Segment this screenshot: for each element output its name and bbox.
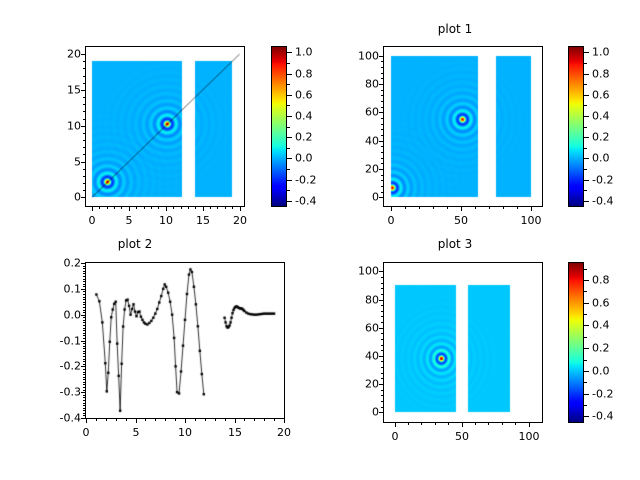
plot1-ytick-label: 80 bbox=[341, 78, 379, 91]
plot0-ytick bbox=[81, 90, 86, 91]
plot3-ytick-label: 40 bbox=[341, 350, 379, 363]
plot3-ytick-minor bbox=[381, 322, 384, 323]
plot0-ytick-minor bbox=[83, 147, 86, 148]
plot0-ytick bbox=[81, 162, 86, 163]
plot0-ytick bbox=[81, 197, 86, 198]
plot3-xtick-label: 0 bbox=[392, 430, 399, 443]
plot3-cbar-tick-minor bbox=[584, 360, 587, 361]
plot2-ytick-minor bbox=[83, 291, 86, 292]
plot0-xtick-label: 5 bbox=[126, 214, 133, 227]
plot2-ytick-minor bbox=[83, 400, 86, 401]
plot2-ytick-minor bbox=[83, 356, 86, 357]
plot2-ytick-minor bbox=[83, 390, 86, 391]
plot2-xtick-minor bbox=[195, 418, 196, 421]
plot0-cbar-tick-minor bbox=[287, 148, 290, 149]
plot0-ytick-minor bbox=[83, 68, 86, 69]
plot1-cbar-tick-label: 1.0 bbox=[592, 46, 610, 59]
plot1-ytick-minor bbox=[381, 107, 384, 108]
plot2-ytick bbox=[81, 289, 86, 290]
plot2-xtick-minor bbox=[106, 418, 107, 421]
plot3-ytick bbox=[379, 412, 384, 413]
plot0-xtick-minor bbox=[188, 206, 189, 209]
plot0-cbar-tick-label: 1.0 bbox=[295, 46, 313, 59]
plot0-cbar-tick bbox=[287, 201, 292, 202]
plot0-ytick-label: 0 bbox=[43, 191, 81, 204]
plot3-cbar-tick-minor bbox=[584, 291, 587, 292]
plot0-cbar-tick-label: 0.4 bbox=[295, 110, 313, 123]
plot1-cbar-tick bbox=[584, 52, 589, 53]
plot0-cbar-tick bbox=[287, 137, 292, 138]
plot2-ytick-minor bbox=[83, 271, 86, 272]
plot2-ytick-minor bbox=[83, 346, 86, 347]
plot2-xtick-minor bbox=[264, 418, 265, 421]
plot1-ytick-label: 40 bbox=[341, 135, 379, 148]
plot0-ytick-minor bbox=[83, 104, 86, 105]
plot1-ytick-minor bbox=[381, 90, 384, 91]
plot2-ytick bbox=[81, 366, 86, 367]
plot3-cbar-tick-minor bbox=[584, 337, 587, 338]
plot0-ytick-minor bbox=[83, 111, 86, 112]
plot1-ytick-minor bbox=[381, 175, 384, 176]
plot1-cbar-tick-label: -0.2 bbox=[592, 174, 613, 187]
plot0-cbar-tick bbox=[287, 95, 292, 96]
plot2-ytick-minor bbox=[83, 294, 86, 295]
plot3-ytick-minor bbox=[381, 367, 384, 368]
plot1-axes bbox=[383, 46, 543, 207]
plot1-ytick-minor bbox=[381, 118, 384, 119]
plot3-xtick-label: 50 bbox=[455, 430, 469, 443]
plot0-xtick-label: 15 bbox=[196, 214, 210, 227]
plot1-ytick-minor bbox=[381, 180, 384, 181]
plot2-ytick-minor bbox=[83, 405, 86, 406]
plot0-cbar-tick-label: 0.0 bbox=[295, 152, 313, 165]
plot3-xtick-minor bbox=[502, 422, 503, 425]
plot1-ytick-minor bbox=[381, 78, 384, 79]
plot3-ytick-minor bbox=[381, 390, 384, 391]
plot1-cbar-tick-minor bbox=[584, 84, 587, 85]
plot0-cbar-tick-minor bbox=[287, 63, 290, 64]
plot0-ytick-minor bbox=[83, 133, 86, 134]
plot3-cbar-tick-minor bbox=[584, 405, 587, 406]
plot1-xtick bbox=[391, 206, 392, 211]
plot0-xtick-minor bbox=[136, 206, 137, 209]
plot2-ytick bbox=[81, 263, 86, 264]
plot0-cbar-tick-label: -0.2 bbox=[295, 174, 316, 187]
plot1-cbar-tick bbox=[584, 116, 589, 117]
plot0-plot-area bbox=[86, 47, 244, 206]
plot2-ytick-minor bbox=[83, 322, 86, 323]
plot0-ytick-minor bbox=[83, 140, 86, 141]
plot1-ytick bbox=[379, 141, 384, 142]
plot2-plot-area bbox=[86, 263, 284, 418]
plot0-cbar-tick-label: -0.4 bbox=[295, 195, 316, 208]
plot3-cbar-tick bbox=[584, 394, 589, 395]
plot2-xtick-minor bbox=[126, 418, 127, 421]
plot2-xtick bbox=[86, 418, 87, 423]
plot1-ytick bbox=[379, 197, 384, 198]
plot1-ytick-minor bbox=[381, 186, 384, 187]
plot2-ytick-minor bbox=[83, 408, 86, 409]
plot3-ytick-minor bbox=[381, 361, 384, 362]
plot2-ytick-minor bbox=[83, 304, 86, 305]
plot3-xtick-minor bbox=[408, 422, 409, 425]
plot1-xtick-label: 50 bbox=[454, 214, 468, 227]
plot2-ytick-minor bbox=[83, 268, 86, 269]
plot3-ytick-label: 100 bbox=[341, 265, 379, 278]
plot2-ytick-minor bbox=[83, 372, 86, 373]
plot1-xtick-minor bbox=[503, 206, 504, 209]
plot1-ytick-label: 100 bbox=[341, 50, 379, 63]
plot0-xtick bbox=[129, 206, 130, 211]
plot1-ytick-minor bbox=[381, 101, 384, 102]
plot0-ytick-minor bbox=[83, 83, 86, 84]
plot1-cbar-tick bbox=[584, 158, 589, 159]
plot1-xtick-label: 100 bbox=[521, 214, 542, 227]
plot1-ytick-label: 0 bbox=[341, 191, 379, 204]
plot0-cbar-tick-label: 0.8 bbox=[295, 68, 313, 81]
plot2-xtick-minor bbox=[244, 418, 245, 421]
plot2-xtick-minor bbox=[254, 418, 255, 421]
plot1-ytick-minor bbox=[381, 135, 384, 136]
plot2-xtick-label: 5 bbox=[133, 426, 140, 439]
plot0-ytick-label: 20 bbox=[43, 48, 81, 61]
plot2-ytick-minor bbox=[83, 348, 86, 349]
plot2-ytick-minor bbox=[83, 286, 86, 287]
plot1-xtick-minor bbox=[433, 206, 434, 209]
plot3-ytick bbox=[379, 300, 384, 301]
plot2-xtick-minor bbox=[215, 418, 216, 421]
plot0-xtick-minor bbox=[217, 206, 218, 209]
plot0-cbar-tick-minor bbox=[287, 127, 290, 128]
plot0-xtick-minor bbox=[121, 206, 122, 209]
plot3-xtick-minor bbox=[435, 422, 436, 425]
plot2-ytick-minor bbox=[83, 279, 86, 280]
plot2-ytick-minor bbox=[83, 359, 86, 360]
plot1-ytick bbox=[379, 169, 384, 170]
plot2-ytick bbox=[81, 392, 86, 393]
plot1-cbar-tick-minor bbox=[584, 105, 587, 106]
plot0-xtick-minor bbox=[210, 206, 211, 209]
plot2-xtick-minor bbox=[274, 418, 275, 421]
plot0-ytick-minor bbox=[83, 119, 86, 120]
plot0-ytick-label: 10 bbox=[43, 120, 81, 133]
plot2-ytick-minor bbox=[83, 382, 86, 383]
plot0-xtick-label: 0 bbox=[89, 214, 96, 227]
plot2-ytick-minor bbox=[83, 415, 86, 416]
plot2-ytick-minor bbox=[83, 302, 86, 303]
plot1-cbar-tick-label: 0.2 bbox=[592, 131, 610, 144]
plot2-ytick-label: -0.4 bbox=[43, 412, 81, 425]
plot1-ytick-label: 60 bbox=[341, 106, 379, 119]
plot1-cbar-tick-minor bbox=[584, 63, 587, 64]
plot2-xtick-label: 20 bbox=[277, 426, 291, 439]
plot3-colorbar-gradient bbox=[569, 263, 583, 422]
plot3-ytick-label: 20 bbox=[341, 378, 379, 391]
plot1-cbar-tick-minor bbox=[584, 190, 587, 191]
plot3-xtick-minor bbox=[475, 422, 476, 425]
plot2-ytick-minor bbox=[83, 317, 86, 318]
plot1-ytick-minor bbox=[381, 73, 384, 74]
plot2-xtick-minor bbox=[145, 418, 146, 421]
plot3-cbar-tick bbox=[584, 371, 589, 372]
plot0-ytick-minor bbox=[83, 169, 86, 170]
plot2-ytick-minor bbox=[83, 325, 86, 326]
plot3-ytick-minor bbox=[381, 350, 384, 351]
plot3-ytick-label: 60 bbox=[341, 322, 379, 335]
plot2-ytick-minor bbox=[83, 413, 86, 414]
plot3-ytick bbox=[379, 328, 384, 329]
plot0-xtick-label: 10 bbox=[159, 214, 173, 227]
plot2-ytick-minor bbox=[83, 397, 86, 398]
plot2-ytick-label: -0.3 bbox=[43, 386, 81, 399]
plot2-ytick-minor bbox=[83, 353, 86, 354]
plot0-cbar-tick bbox=[287, 158, 292, 159]
plot1-ytick bbox=[379, 56, 384, 57]
plot0-xtick-minor bbox=[195, 206, 196, 209]
plot1-cbar-tick-label: -0.4 bbox=[592, 195, 613, 208]
plot1-cbar-tick-minor bbox=[584, 148, 587, 149]
plot0-xtick-minor bbox=[232, 206, 233, 209]
plot0-xtick-label: 20 bbox=[233, 214, 247, 227]
plot1-ytick-minor bbox=[381, 146, 384, 147]
plot0-ytick-minor bbox=[83, 190, 86, 191]
plot3-ytick-minor bbox=[381, 294, 384, 295]
plot3-ytick-minor bbox=[381, 373, 384, 374]
plot2-ytick bbox=[81, 341, 86, 342]
plot0-ytick bbox=[81, 126, 86, 127]
plot1-ytick-minor bbox=[381, 152, 384, 153]
plot0-ytick-label: 15 bbox=[43, 84, 81, 97]
plot2-ytick-minor bbox=[83, 384, 86, 385]
plot1-ytick bbox=[379, 84, 384, 85]
plot1-ytick-minor bbox=[381, 163, 384, 164]
plot2-ytick-minor bbox=[83, 387, 86, 388]
plot0-ytick bbox=[81, 54, 86, 55]
plot3-xtick bbox=[462, 422, 463, 427]
plot1-ytick-label: 20 bbox=[341, 163, 379, 176]
plot0-ytick-minor bbox=[83, 76, 86, 77]
plot1-title: plot 1 bbox=[330, 22, 580, 36]
plot2-ytick-label: -0.1 bbox=[43, 335, 81, 348]
plot3-title: plot 3 bbox=[330, 237, 580, 251]
plot2-ytick-minor bbox=[83, 377, 86, 378]
plot2-ytick-minor bbox=[83, 299, 86, 300]
plot3-ytick-minor bbox=[381, 339, 384, 340]
plot0-xtick bbox=[240, 206, 241, 211]
plot3-plot-area bbox=[384, 263, 542, 422]
plot2-ytick-minor bbox=[83, 273, 86, 274]
plot0-xtick-minor bbox=[151, 206, 152, 209]
plot2-ytick-minor bbox=[83, 284, 86, 285]
plot3-ytick bbox=[379, 271, 384, 272]
plot2-ytick-minor bbox=[83, 281, 86, 282]
plot0-ytick-minor bbox=[83, 61, 86, 62]
plot2-ytick-minor bbox=[83, 297, 86, 298]
plot3-cbar-tick bbox=[584, 325, 589, 326]
plot2-ytick-minor bbox=[83, 410, 86, 411]
plot1-xtick-minor bbox=[475, 206, 476, 209]
plot3-axes bbox=[383, 262, 543, 423]
plot2-ytick-minor bbox=[83, 333, 86, 334]
plot3-ytick-label: 0 bbox=[341, 406, 379, 419]
plot0-ytick-minor bbox=[83, 183, 86, 184]
plot3-cbar-tick-label: -0.2 bbox=[592, 388, 613, 401]
plot0-xtick-minor bbox=[99, 206, 100, 209]
plot0-cbar-tick bbox=[287, 116, 292, 117]
plot1-cbar-tick bbox=[584, 180, 589, 181]
plot0-cbar-tick-label: 0.6 bbox=[295, 89, 313, 102]
plot0-xtick-minor bbox=[114, 206, 115, 209]
plot1-cbar-tick bbox=[584, 201, 589, 202]
plot1-xtick bbox=[461, 206, 462, 211]
plot2-ytick-label: -0.2 bbox=[43, 360, 81, 373]
plot1-xtick-minor bbox=[517, 206, 518, 209]
plot3-xtick-minor bbox=[421, 422, 422, 425]
plot3-ytick-minor bbox=[381, 277, 384, 278]
plot0-cbar-tick-label: 0.2 bbox=[295, 131, 313, 144]
plot2-xtick-minor bbox=[225, 418, 226, 421]
plot2-xtick-label: 10 bbox=[178, 426, 192, 439]
plot0-cbar-tick-minor bbox=[287, 105, 290, 106]
plot3-ytick-minor bbox=[381, 288, 384, 289]
plot2-ytick-minor bbox=[83, 310, 86, 311]
plot3-cbar-tick-label: -0.4 bbox=[592, 410, 613, 423]
plot2-ytick-minor bbox=[83, 307, 86, 308]
plot1-xtick-minor bbox=[405, 206, 406, 209]
plot3-cbar-tick-minor bbox=[584, 269, 587, 270]
plot3-ytick bbox=[379, 384, 384, 385]
plot3-ytick bbox=[379, 356, 384, 357]
plot3-ytick-minor bbox=[381, 333, 384, 334]
plot1-cbar-tick-label: 0.0 bbox=[592, 152, 610, 165]
plot0-xtick-minor bbox=[225, 206, 226, 209]
plot3-xtick bbox=[529, 422, 530, 427]
plot3-xtick-minor bbox=[488, 422, 489, 425]
plot0-cbar-tick-minor bbox=[287, 84, 290, 85]
plot2-xtick-minor bbox=[96, 418, 97, 421]
plot1-xtick-label: 0 bbox=[388, 214, 395, 227]
plot3-ytick-minor bbox=[381, 311, 384, 312]
plot1-plot-area bbox=[384, 47, 542, 206]
plot2-ytick-minor bbox=[83, 276, 86, 277]
plot0-ytick-minor bbox=[83, 154, 86, 155]
plot2-xtick-minor bbox=[165, 418, 166, 421]
plot2-xtick-minor bbox=[155, 418, 156, 421]
plot1-cbar-tick-label: 0.6 bbox=[592, 89, 610, 102]
plot2-ytick-minor bbox=[83, 361, 86, 362]
plot3-ytick-minor bbox=[381, 283, 384, 284]
plot2-xtick bbox=[185, 418, 186, 423]
plot3-colorbar bbox=[568, 262, 584, 423]
plot1-ytick-minor bbox=[381, 61, 384, 62]
plot2-xtick bbox=[235, 418, 236, 423]
plot0-ytick-minor bbox=[83, 176, 86, 177]
plot3-cbar-tick-label: 0.4 bbox=[592, 319, 610, 332]
plot3-xtick-minor bbox=[448, 422, 449, 425]
plot2-ytick-label: 0.0 bbox=[43, 309, 81, 322]
plot1-colorbar bbox=[568, 46, 584, 207]
plot3-cbar-tick bbox=[584, 303, 589, 304]
plot1-ytick-minor bbox=[381, 158, 384, 159]
plot0-xtick-minor bbox=[144, 206, 145, 209]
plot3-cbar-tick bbox=[584, 348, 589, 349]
plot1-ytick-minor bbox=[381, 95, 384, 96]
plot1-cbar-tick-minor bbox=[584, 127, 587, 128]
plot2-xtick-label: 0 bbox=[83, 426, 90, 439]
plot0-cbar-tick bbox=[287, 74, 292, 75]
plot1-cbar-tick bbox=[584, 137, 589, 138]
plot2-ytick-label: 0.1 bbox=[43, 283, 81, 296]
plot2-ytick-minor bbox=[83, 374, 86, 375]
plot3-cbar-tick-label: 0.0 bbox=[592, 365, 610, 378]
plot3-cbar-tick-minor bbox=[584, 382, 587, 383]
plot1-xtick-minor bbox=[489, 206, 490, 209]
plot0-colorbar-gradient bbox=[272, 47, 286, 206]
plot2-ytick-minor bbox=[83, 312, 86, 313]
plot2-ytick-minor bbox=[83, 343, 86, 344]
plot2-ytick-minor bbox=[83, 351, 86, 352]
plot3-ytick-minor bbox=[381, 401, 384, 402]
plot1-xtick-minor bbox=[419, 206, 420, 209]
plot3-ytick-minor bbox=[381, 378, 384, 379]
plot2-title: plot 2 bbox=[10, 237, 260, 251]
plot2-ytick-label: 0.2 bbox=[43, 257, 81, 270]
plot2-ytick bbox=[81, 315, 86, 316]
plot2-ytick-minor bbox=[83, 266, 86, 267]
plot3-ytick-minor bbox=[381, 345, 384, 346]
plot0-ytick-minor bbox=[83, 97, 86, 98]
plot2-ytick-minor bbox=[83, 403, 86, 404]
plot3-xtick bbox=[395, 422, 396, 427]
plot2-ytick-minor bbox=[83, 364, 86, 365]
plot2-xtick-minor bbox=[175, 418, 176, 421]
plot1-cbar-tick-minor bbox=[584, 169, 587, 170]
plot1-ytick-minor bbox=[381, 129, 384, 130]
plot1-cbar-tick bbox=[584, 74, 589, 75]
plot2-xtick-minor bbox=[116, 418, 117, 421]
plot1-cbar-tick-label: 0.8 bbox=[592, 68, 610, 81]
plot3-ytick-minor bbox=[381, 407, 384, 408]
plot3-cbar-tick-minor bbox=[584, 314, 587, 315]
plot0-cbar-tick bbox=[287, 52, 292, 53]
plot0-axes bbox=[85, 46, 245, 207]
plot2-ytick-minor bbox=[83, 330, 86, 331]
plot0-xtick-minor bbox=[107, 206, 108, 209]
plot1-ytick-minor bbox=[381, 124, 384, 125]
plot0-xtick-minor bbox=[158, 206, 159, 209]
plot0-xtick bbox=[92, 206, 93, 211]
plot2-ytick-minor bbox=[83, 369, 86, 370]
plot0-xtick bbox=[203, 206, 204, 211]
plot0-xtick-minor bbox=[181, 206, 182, 209]
plot3-ytick-minor bbox=[381, 305, 384, 306]
plot2-axes bbox=[85, 262, 285, 419]
plot2-ytick-minor bbox=[83, 320, 86, 321]
plot1-ytick-minor bbox=[381, 67, 384, 68]
plot3-ytick-minor bbox=[381, 316, 384, 317]
plot3-cbar-tick-label: 0.8 bbox=[592, 274, 610, 287]
plot3-xtick-minor bbox=[515, 422, 516, 425]
plot3-cbar-tick-label: 0.2 bbox=[592, 342, 610, 355]
plot3-ytick-minor bbox=[381, 395, 384, 396]
plot1-cbar-tick-label: 0.4 bbox=[592, 110, 610, 123]
plot2-xtick bbox=[284, 418, 285, 423]
plot1-xtick bbox=[531, 206, 532, 211]
plot3-cbar-tick bbox=[584, 280, 589, 281]
plot3-cbar-tick-label: 0.6 bbox=[592, 297, 610, 310]
plot2-ytick-minor bbox=[83, 338, 86, 339]
plot2-ytick-minor bbox=[83, 395, 86, 396]
